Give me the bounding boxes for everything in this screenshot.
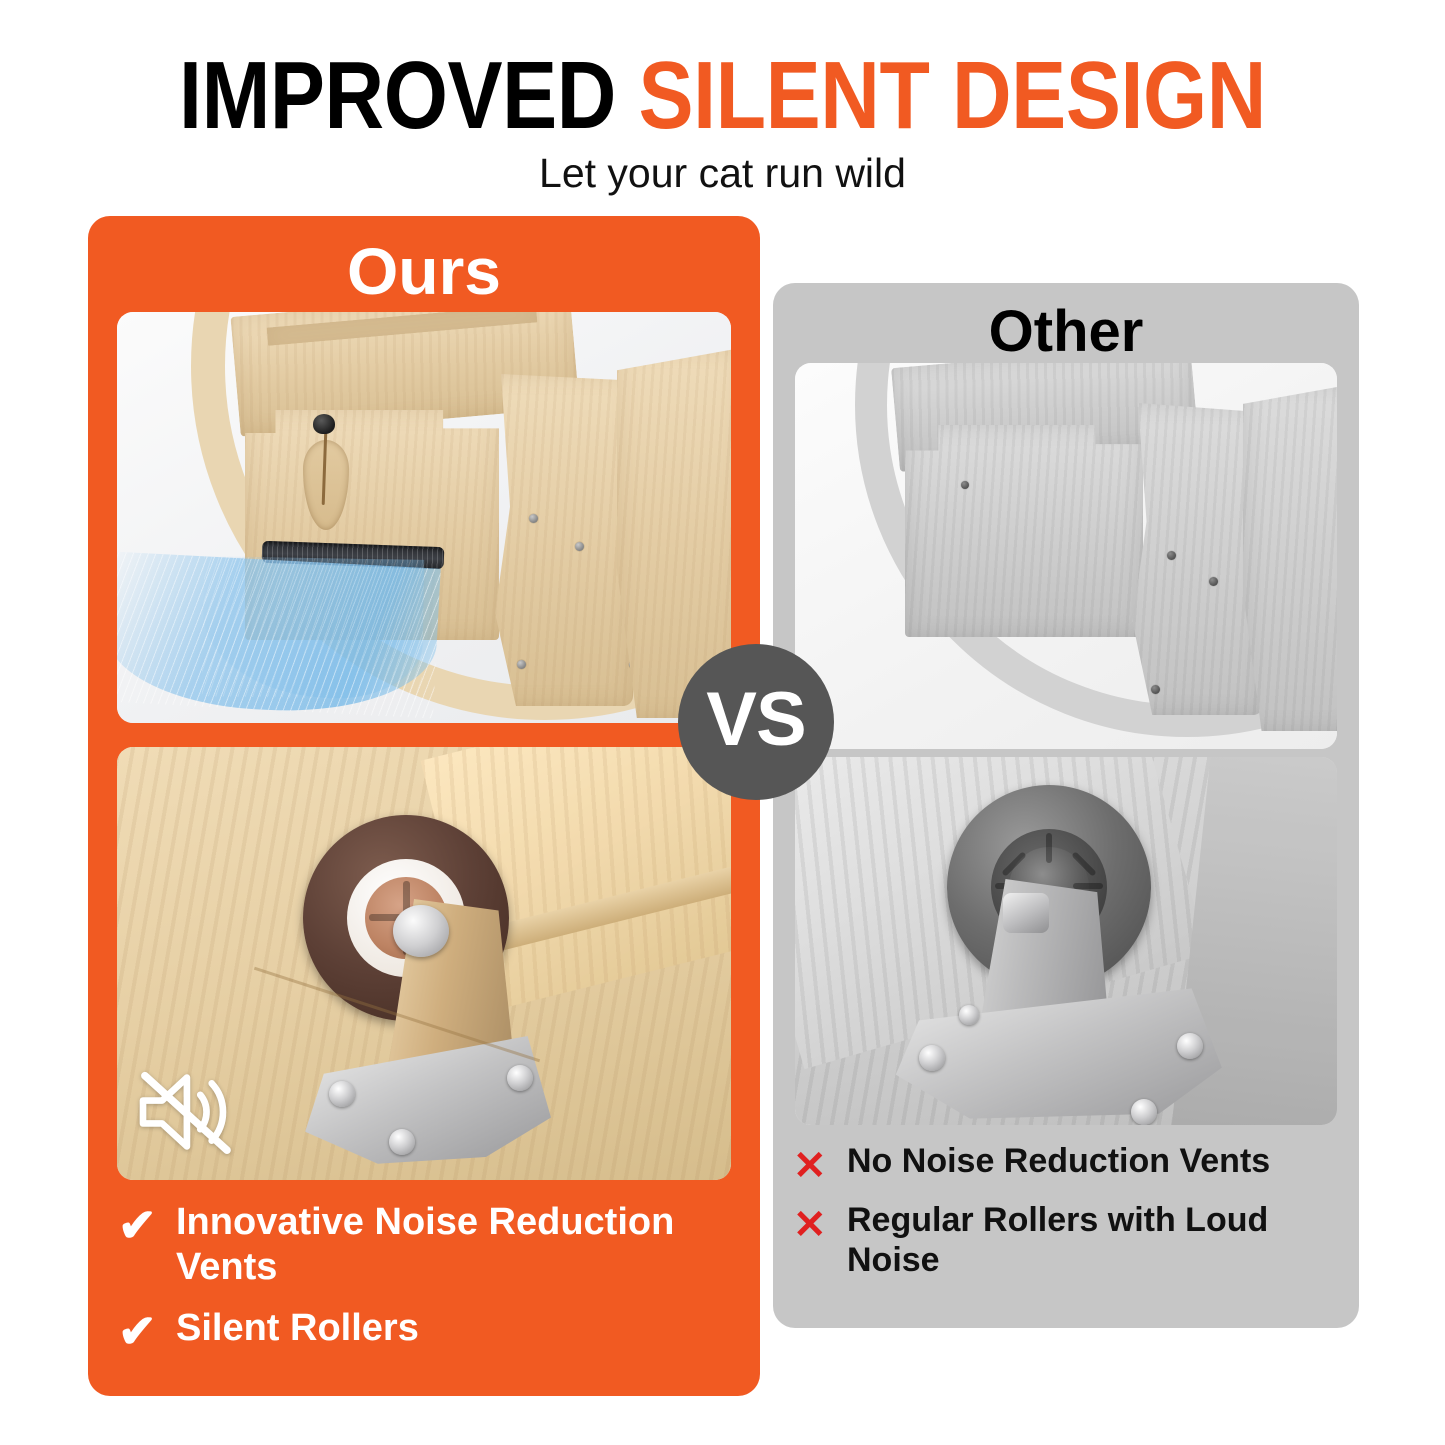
other-feature-label-2: Regular Rollers with Loud Noise	[847, 1200, 1341, 1280]
ours-feature-label-1: Innovative Noise Reduction Vents	[176, 1200, 726, 1290]
ours-feature-item-1: ✔ Innovative Noise Reduction Vents	[118, 1200, 726, 1290]
mute-icon	[137, 1070, 233, 1154]
vs-label: VS	[706, 682, 805, 758]
x-icon: ✕	[793, 1200, 847, 1245]
other-feature-item-1: ✕ No Noise Reduction Vents	[793, 1141, 1341, 1186]
x-icon: ✕	[793, 1141, 847, 1186]
other-panel-heading: Other	[773, 303, 1359, 361]
check-icon: ✔	[118, 1200, 176, 1248]
ours-feature-list: ✔ Innovative Noise Reduction Vents ✔ Sil…	[88, 1200, 760, 1370]
other-feature-list: ✕ No Noise Reduction Vents ✕ Regular Rol…	[773, 1141, 1359, 1294]
other-panel: Other	[773, 283, 1359, 1328]
page-title-part2: SILENT DESIGN	[639, 42, 1266, 149]
other-photo-roller	[795, 757, 1337, 1125]
other-feature-item-2: ✕ Regular Rollers with Loud Noise	[793, 1200, 1341, 1280]
ours-photo-vent	[117, 312, 731, 723]
other-feature-label-1: No Noise Reduction Vents	[847, 1141, 1270, 1181]
ours-feature-label-2: Silent Rollers	[176, 1306, 419, 1351]
page-title-part1: IMPROVED	[179, 42, 616, 149]
ours-panel: Ours	[88, 216, 760, 1396]
ours-feature-item-2: ✔ Silent Rollers	[118, 1306, 726, 1354]
ours-panel-heading: Ours	[88, 238, 760, 304]
ours-photo-roller	[117, 747, 731, 1180]
vs-badge: VS	[678, 644, 834, 800]
other-photo-base	[795, 363, 1337, 749]
page-header: IMPROVED SILENT DESIGN Let your cat run …	[0, 0, 1445, 205]
page-title: IMPROVED SILENT DESIGN	[101, 46, 1344, 146]
page-subtitle: Let your cat run wild	[0, 150, 1445, 197]
check-icon: ✔	[118, 1306, 176, 1354]
